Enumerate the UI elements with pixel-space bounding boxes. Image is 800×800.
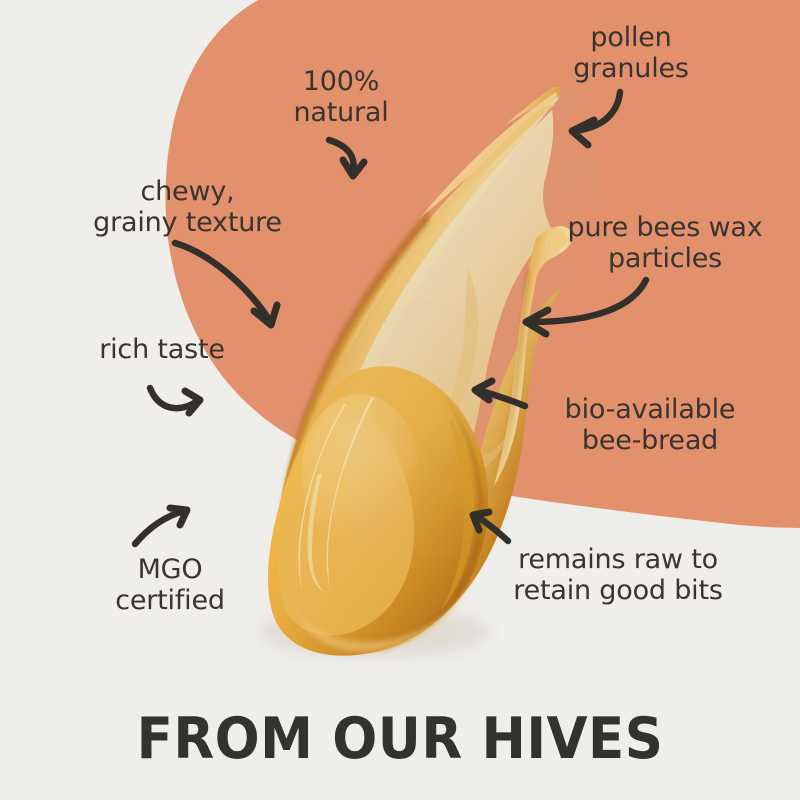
honey-filament-tip [504,87,561,126]
arrow-chewy-grainy-texture [175,243,277,325]
callout-label-bio-available: bio-available bee-bread [520,394,780,457]
honey-drop-shadow [260,606,490,658]
callout-label-pollen-granules: pollen granules [516,22,746,85]
callout-label-100-natural: 100% natural [246,66,436,129]
callout-label-mgo-certified: MGO certified [64,554,276,617]
callout-label-rich-taste: rich taste [62,334,262,365]
headline: FROM OUR HIVES TO YOUR HOME [0,652,800,800]
arrow-pure-bees-wax [526,280,646,334]
arrow-100-natural [329,140,364,176]
headline-line-1: FROM OUR HIVES [28,710,772,768]
callout-label-remains-raw: remains raw to retain good bits [478,544,758,607]
arrow-bio-available [475,381,525,406]
callout-label-chewy-texture: chewy, grainy texture [60,176,315,239]
callout-label-bees-wax: pure bees wax particles [540,212,790,275]
honey-core-grain [348,300,474,555]
arrow-mgo-certified [135,508,187,544]
arrow-pollen-granules [572,92,620,145]
arrow-remains-raw [473,512,508,541]
honey-lower-bulb [268,366,488,656]
poster-canvas: pollen granules 100% natural chewy, grai… [0,0,800,800]
arrow-rich-taste [150,388,200,413]
honey-filament-highlight [418,92,558,220]
